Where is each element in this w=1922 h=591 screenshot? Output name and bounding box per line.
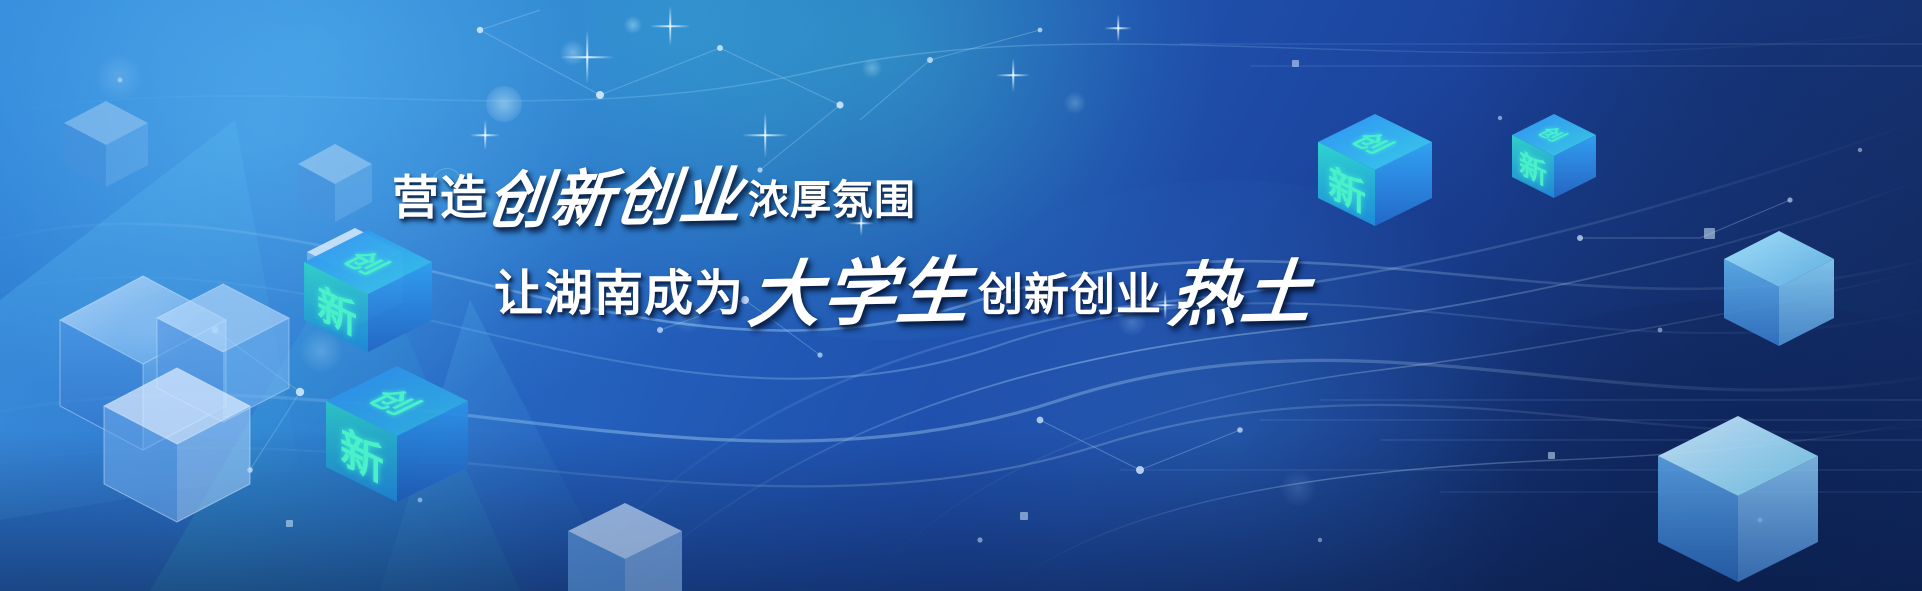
headline-line-1: 营造 创新创业 浓厚氛围 [392, 142, 912, 232]
headline-block: 营造 创新创业 浓厚氛围 让湖南成为 大学生 创新创业 热土 [0, 0, 1922, 591]
promotional-banner: 创 新 创 [0, 0, 1922, 591]
headline-line2-segment-3: 创新创业 [978, 258, 1162, 323]
headline-line2-segment-2: 大学生 [744, 232, 977, 342]
headline-line1-segment-3: 浓厚氛围 [748, 166, 916, 226]
headline-line-2: 让湖南成为 大学生 创新创业 热土 [494, 226, 1294, 331]
headline-line1-segment-1: 营造 [392, 159, 488, 228]
headline-line2-segment-1: 让湖南成为 [494, 254, 744, 325]
headline-line2-segment-4: 热土 [1165, 237, 1320, 341]
